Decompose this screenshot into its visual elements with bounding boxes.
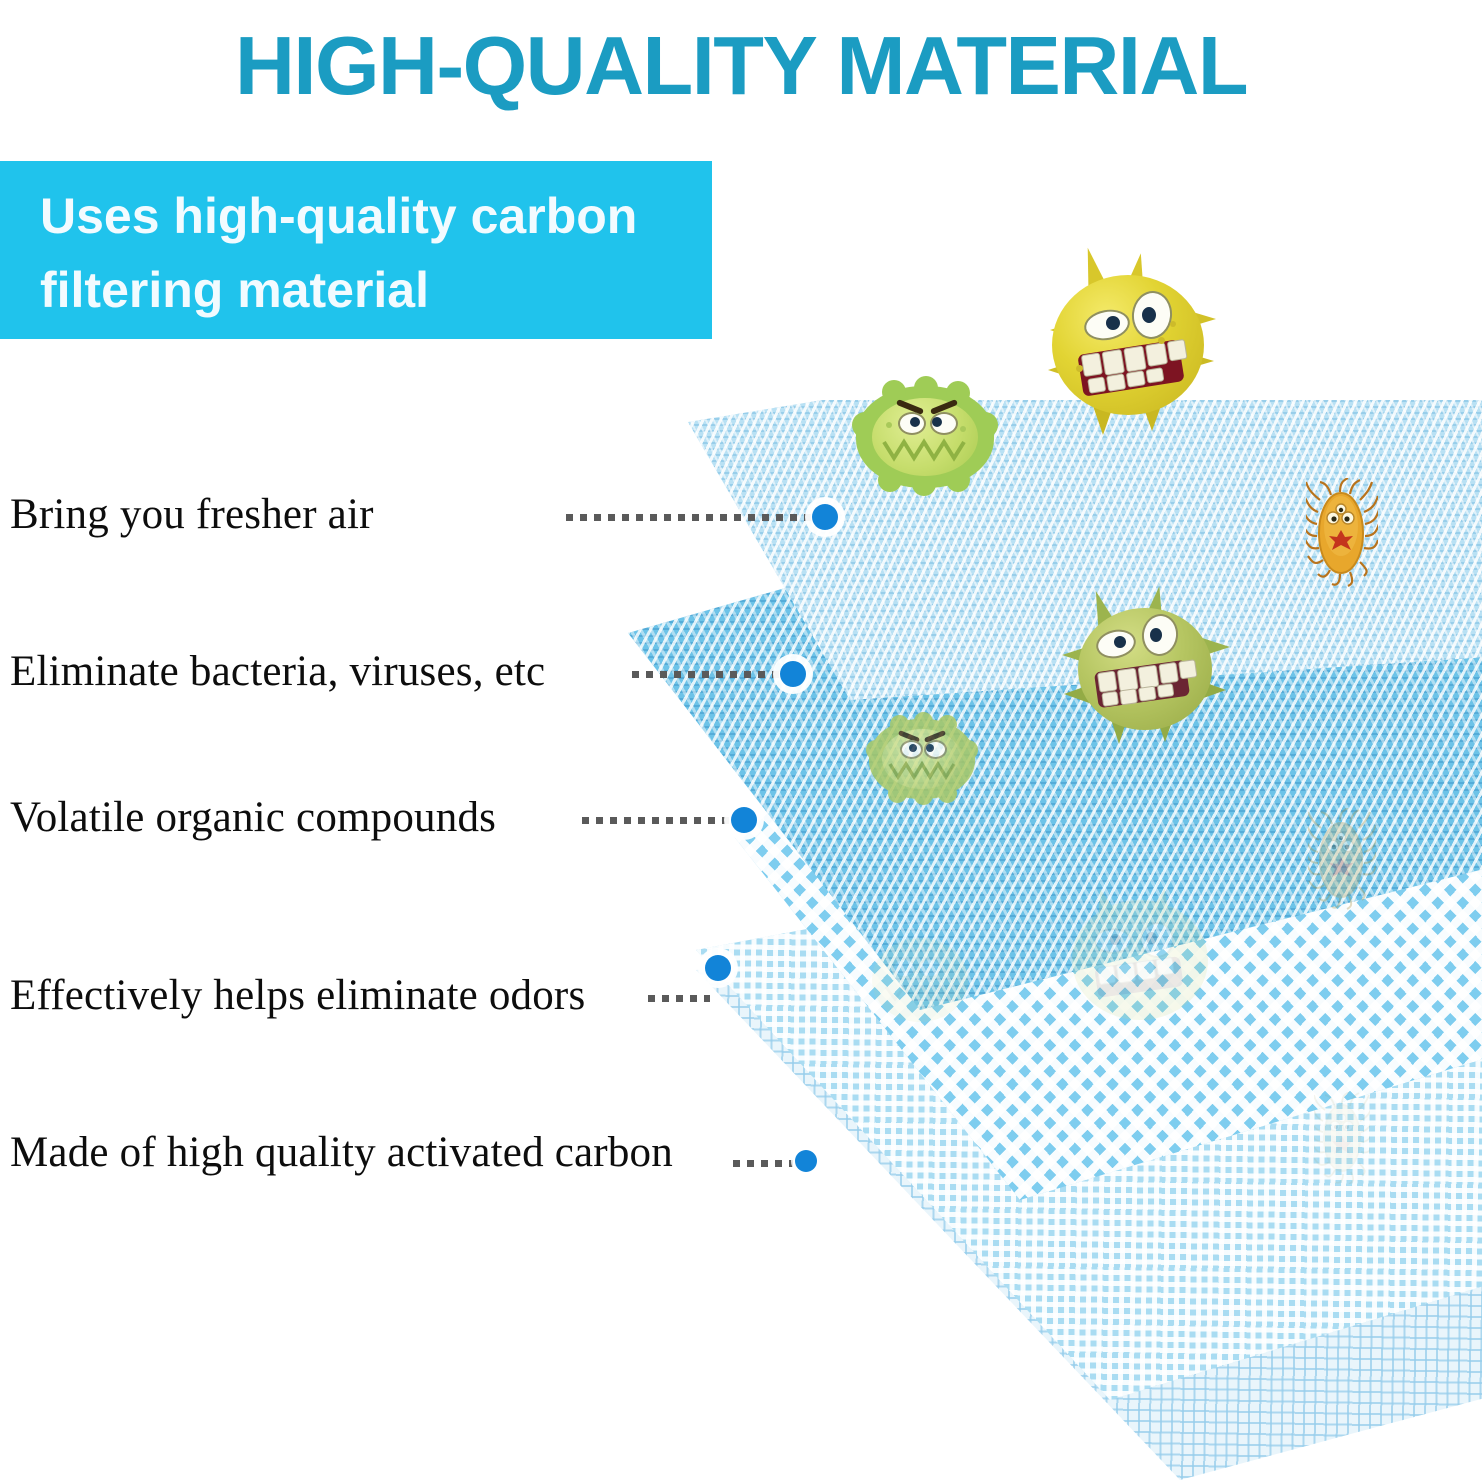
feature-dot-4 bbox=[705, 955, 731, 981]
germ-tooth bbox=[1126, 370, 1146, 388]
feature-dot-5 bbox=[795, 1150, 817, 1172]
germ-bump bbox=[914, 376, 938, 400]
faint-small-germ bbox=[866, 932, 974, 1028]
feature-label-5: Made of high quality activated carbon bbox=[10, 1128, 673, 1177]
bacterium-svg bbox=[1308, 808, 1376, 912]
germ-tooth bbox=[1106, 373, 1126, 392]
orange-bacterium bbox=[1306, 478, 1378, 590]
germ-pupil-right bbox=[1146, 932, 1157, 944]
highlight-banner-text: Uses high-quality carbon filtering mater… bbox=[40, 179, 700, 327]
infographic-page: HIGH-QUALITY MATERIAL Uses high-quality … bbox=[0, 0, 1482, 1482]
germ-spot bbox=[886, 422, 892, 428]
germ-tooth bbox=[1178, 659, 1197, 679]
highlight-banner-line2: filtering material bbox=[40, 262, 429, 318]
germ-tooth bbox=[1097, 670, 1118, 692]
germ-tooth bbox=[1145, 367, 1164, 383]
germ-tooth bbox=[1158, 662, 1179, 684]
germ-pupil-left bbox=[1114, 636, 1126, 648]
page-title: HIGH-QUALITY MATERIAL bbox=[0, 18, 1482, 114]
feature-label-3: Volatile organic compounds bbox=[10, 793, 496, 842]
germ-tooth bbox=[1097, 965, 1116, 985]
bacterium-svg bbox=[1314, 1092, 1370, 1184]
germ-spot bbox=[1170, 321, 1176, 327]
germ-bump bbox=[888, 784, 907, 803]
yellow-spiky-germ bbox=[1030, 255, 1230, 435]
germ-spot bbox=[960, 426, 966, 432]
germ-eye-left bbox=[892, 958, 916, 978]
germ-pupil-right bbox=[926, 744, 934, 752]
germ-tooth bbox=[1102, 349, 1126, 376]
germ-tooth bbox=[1136, 959, 1156, 980]
germ-pupil-right bbox=[1142, 307, 1156, 323]
germ-pupil-left bbox=[909, 744, 917, 752]
germ-pupil-left bbox=[910, 417, 920, 427]
feature-dot-1 bbox=[812, 504, 838, 530]
germ-body bbox=[1072, 900, 1208, 1020]
germ-tooth bbox=[1167, 339, 1188, 362]
highlight-banner: Uses high-quality carbon filtering mater… bbox=[0, 161, 712, 339]
feature-leader-5 bbox=[733, 1160, 793, 1167]
germ-tooth bbox=[1101, 691, 1119, 707]
feature-dot-2 bbox=[780, 661, 806, 687]
feature-label-2: Eliminate bacteria, viruses, etc bbox=[10, 647, 545, 696]
feature-dot-3 bbox=[731, 807, 757, 833]
feature-leader-3 bbox=[582, 817, 734, 824]
germ-tooth bbox=[1155, 957, 1174, 976]
germ-tooth bbox=[1119, 688, 1138, 705]
germ-mouth-zigzag bbox=[882, 434, 972, 464]
germ-pupil-right bbox=[932, 417, 942, 427]
feature-leader-1 bbox=[566, 514, 814, 521]
germ-bump bbox=[946, 468, 970, 492]
feature-label-1: Bring you fresher air bbox=[10, 490, 374, 539]
germ-mouth-zigzag bbox=[888, 758, 958, 782]
germ-pupil-left bbox=[1110, 934, 1121, 945]
germ-tooth bbox=[1145, 342, 1168, 367]
feature-leader-2 bbox=[632, 671, 782, 678]
green-small-germ bbox=[866, 716, 978, 804]
germ-eye-right bbox=[918, 958, 942, 978]
feature-label-4: Effectively helps eliminate odors bbox=[10, 971, 585, 1020]
germ-eye-right bbox=[1140, 922, 1174, 958]
germ-pupil-right bbox=[1150, 628, 1162, 642]
highlight-banner-line1: Uses high-quality carbon bbox=[40, 188, 637, 244]
faint-germ bbox=[1060, 888, 1220, 1030]
faint-bacterium bbox=[1314, 1092, 1370, 1184]
germ-tooth bbox=[1081, 352, 1103, 377]
green-round-germ bbox=[852, 382, 998, 492]
germ-bump bbox=[878, 468, 902, 492]
germ-tooth bbox=[1123, 346, 1147, 373]
germ-bump bbox=[938, 784, 957, 803]
germ-tooth bbox=[1157, 683, 1175, 698]
germ-tooth bbox=[1087, 376, 1106, 393]
green-spiky-germ bbox=[1060, 588, 1236, 748]
germ-body bbox=[872, 938, 968, 1022]
faded-bacterium bbox=[1308, 808, 1376, 912]
feature-leader-4 bbox=[648, 995, 710, 1002]
germ-tooth bbox=[1116, 962, 1136, 983]
germ-spot bbox=[1158, 337, 1165, 344]
germ-pupil-left bbox=[1106, 316, 1120, 330]
germ-mouth-zigzag bbox=[884, 982, 954, 1004]
germ-spot bbox=[1076, 365, 1083, 372]
germ-tooth bbox=[1138, 686, 1157, 702]
bacterium-svg bbox=[1306, 478, 1378, 590]
